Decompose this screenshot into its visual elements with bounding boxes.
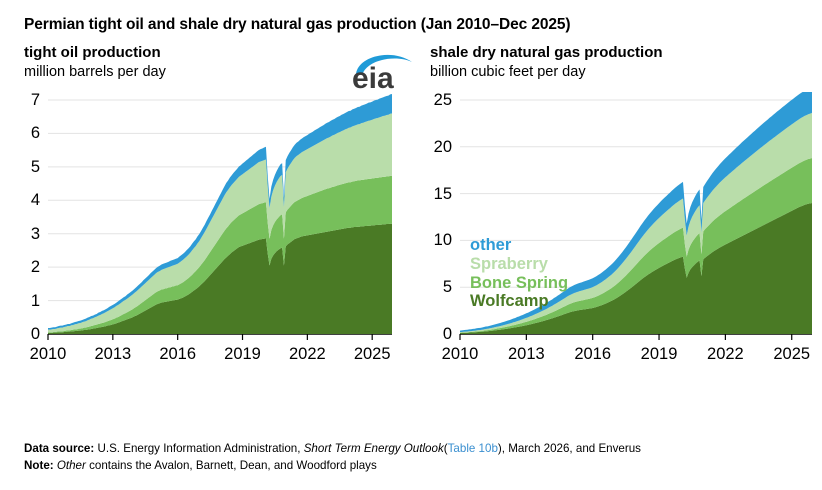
footer-note-label: Note: [24,459,54,472]
legend-item-bone-spring: Bone Spring [470,274,568,293]
footer-source-label: Data source: [24,442,94,455]
footer-source-publication: Short Term Energy Outlook [304,442,444,455]
panel-tight-oil: tight oil production million barrels per… [0,44,410,384]
footer-table-link[interactable]: Table 10b [448,442,498,455]
ytick-label-10: 10 [422,232,452,249]
ytick-label-1: 1 [10,293,40,310]
footer-note-text: contains the Avalon, Barnett, Dean, and … [89,459,377,472]
panel-shale-gas: shale dry natural gas production billion… [412,44,822,384]
xtick-label-2010: 2010 [20,346,76,363]
footer-note-other: Other [57,459,86,472]
chart-legend: otherSpraberryBone SpringWolfcamp [470,236,568,311]
footer-notes: Data source: U.S. Energy Information Adm… [24,441,814,475]
xtick-label-2016: 2016 [565,346,621,363]
legend-item-other: other [470,236,568,255]
ytick-label-0: 0 [10,326,40,343]
plot-area-tight-oil: 01234567201020132016201920222025 [0,92,410,382]
ytick-label-4: 4 [10,192,40,209]
legend-item-spraberry: Spraberry [470,255,568,274]
page-title: Permian tight oil and shale dry natural … [24,16,570,34]
footer-source-text: U.S. Energy Information Administration, [97,442,300,455]
panel-title-tight-oil: tight oil production [24,44,161,61]
chart-svg-tight-oil [0,92,410,382]
xtick-label-2025: 2025 [344,346,400,363]
xtick-label-2025: 2025 [764,346,820,363]
ytick-label-20: 20 [422,139,452,156]
footer-paren-close: ), March 2026, and Enverus [498,442,641,455]
panel-title-shale-gas: shale dry natural gas production [430,44,663,61]
footer-source-line: Data source: U.S. Energy Information Adm… [24,441,814,458]
footer-note-line: Note: Other contains the Avalon, Barnett… [24,458,814,475]
xtick-label-2019: 2019 [631,346,687,363]
xtick-label-2010: 2010 [432,346,488,363]
ytick-label-5: 5 [422,279,452,296]
ytick-label-3: 3 [10,226,40,243]
xtick-label-2013: 2013 [498,346,554,363]
ytick-label-7: 7 [10,92,40,109]
ytick-label-25: 25 [422,92,452,109]
xtick-label-2013: 2013 [85,346,141,363]
panel-subtitle-shale-gas: billion cubic feet per day [430,64,586,80]
legend-item-wolfcamp: Wolfcamp [470,292,568,311]
panel-subtitle-tight-oil: million barrels per day [24,64,166,80]
xtick-label-2019: 2019 [215,346,271,363]
xtick-label-2022: 2022 [697,346,753,363]
xtick-label-2016: 2016 [150,346,206,363]
chart-page: Permian tight oil and shale dry natural … [0,0,822,490]
ytick-label-0: 0 [422,326,452,343]
ytick-label-15: 15 [422,186,452,203]
ytick-label-2: 2 [10,259,40,276]
ytick-label-6: 6 [10,125,40,142]
xtick-label-2022: 2022 [279,346,335,363]
ytick-label-5: 5 [10,159,40,176]
